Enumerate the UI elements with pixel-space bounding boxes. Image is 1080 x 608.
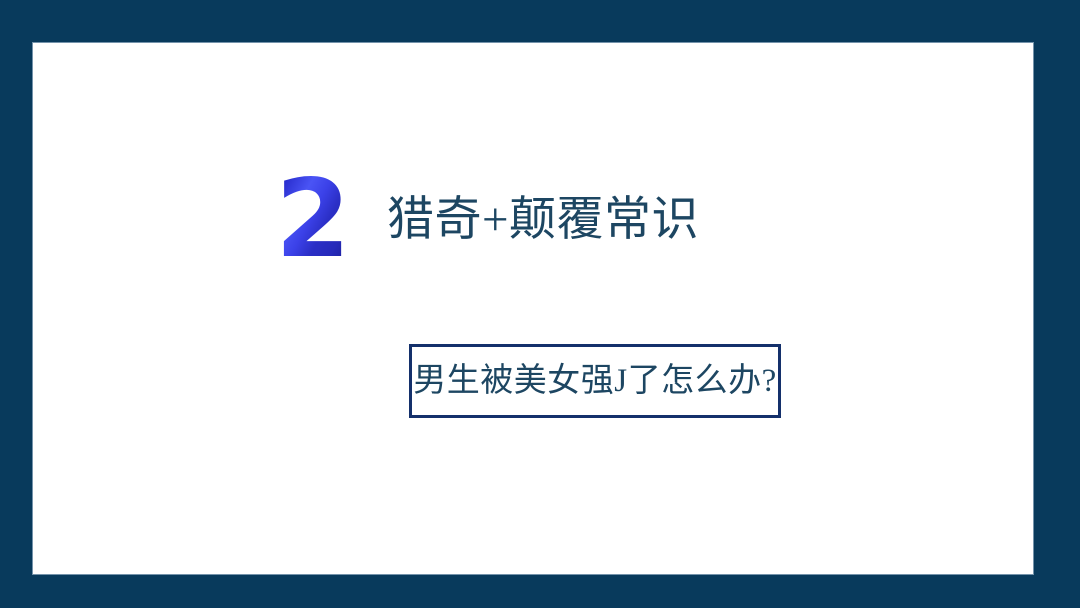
page-title: 猎奇+颠覆常识 [387,197,699,244]
question-callout-box: 男生被美女强J了怎么办? [409,344,781,418]
section-number: 2 2 [273,170,351,270]
slide: 2 2 猎奇+颠覆常识 男生被美女强J了怎么办? [0,0,1080,608]
slide-canvas: 2 2 猎奇+颠覆常识 男生被美女强J了怎么办? [33,43,1033,574]
section-number-glyph: 2 [273,170,351,270]
question-callout-text: 男生被美女强J了怎么办? [413,365,777,398]
headline-row: 2 2 猎奇+颠覆常识 [273,170,793,270]
section-heading-block: 2 2 猎奇+颠覆常识 [273,170,793,270]
